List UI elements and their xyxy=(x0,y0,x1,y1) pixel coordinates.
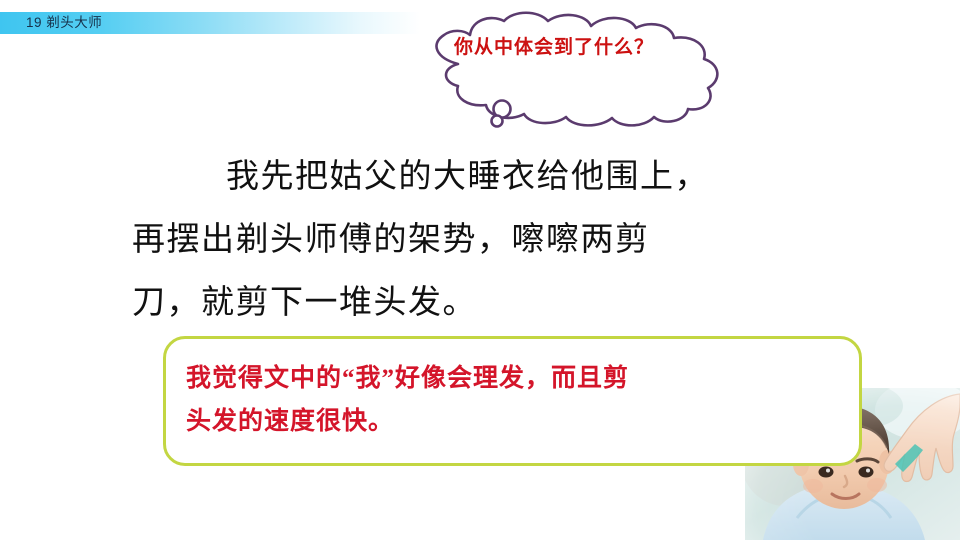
passage-line: 刀，就剪下一堆头发。 xyxy=(132,272,872,335)
passage-line: 我先把姑父的大睡衣给他围上， xyxy=(132,146,872,209)
answer-line: 我觉得文中的“我”好像会理发，而且剪 xyxy=(186,357,846,400)
answer-box: 我觉得文中的“我”好像会理发，而且剪 头发的速度很快。 xyxy=(163,336,862,466)
thought-bubble: 你从中体会到了什么？ xyxy=(398,8,748,134)
passage-line: 再摆出剃头师傅的架势，嚓嚓两剪 xyxy=(132,209,872,272)
slide-canvas: 19 剃头大师 你从中体会到了什么？ 我先把姑父的大睡衣给他围上， 再摆出剃头师… xyxy=(0,0,960,540)
thought-bubble-question: 你从中体会到了什么？ xyxy=(454,34,704,61)
answer-line: 头发的速度很快。 xyxy=(186,400,846,443)
passage-text: 我先把姑父的大睡衣给他围上， 再摆出剃头师傅的架势，嚓嚓两剪 刀，就剪下一堆头发… xyxy=(132,146,872,335)
thought-bubble-outline xyxy=(398,8,748,134)
page-title: 19 剃头大师 xyxy=(26,13,102,33)
answer-text: 我觉得文中的“我”好像会理发，而且剪 头发的速度很快。 xyxy=(186,357,846,443)
